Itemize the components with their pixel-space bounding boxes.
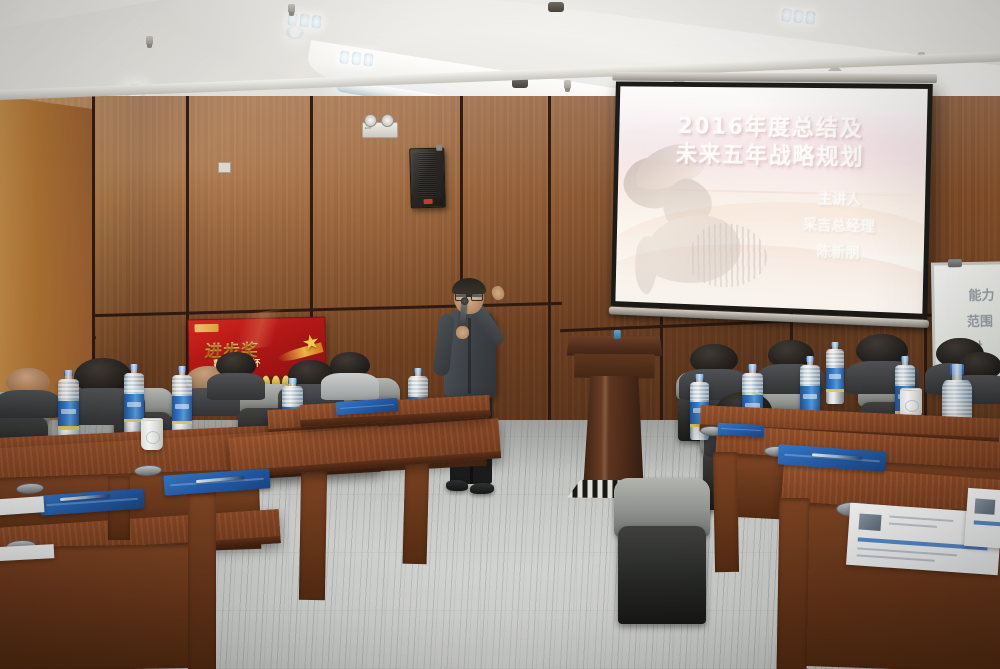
presenter-hand-right <box>490 284 506 301</box>
notebook <box>718 423 765 437</box>
desk-leg <box>299 470 327 600</box>
chair-foreground <box>614 478 710 618</box>
audience-person <box>216 352 256 396</box>
desk-leg <box>713 452 739 572</box>
paper-cup <box>141 418 163 450</box>
desk-leg <box>188 492 216 669</box>
whiteboard-text-line2: 范围 <box>967 311 993 330</box>
wall-sensor-icon <box>218 162 231 173</box>
desk-leg <box>777 498 810 669</box>
screen-surface: 2016年度总结及 未来五年战略规划 主讲人 采吉总经理 陈新朋 <box>615 86 927 313</box>
sprinkler-icon <box>564 80 571 89</box>
presenter-shoe-left <box>446 480 468 491</box>
wall-speaker-icon <box>409 148 446 209</box>
emergency-light-icon: EXIT <box>362 114 398 136</box>
whiteboard-clip-icon <box>948 259 962 267</box>
handout-paper <box>964 488 1000 554</box>
panel-seam <box>548 96 551 426</box>
triple-spotlight-icon <box>781 8 815 24</box>
slide-presenter-label: 主讲人 <box>755 186 925 211</box>
whiteboard-text-line1: 能力 <box>968 285 994 304</box>
audience-person <box>330 352 370 396</box>
podium-microphone-icon <box>614 330 621 339</box>
conference-room-photo: EXIT 2016年度总结及 未来五年战略规划 <box>0 0 1000 669</box>
downlight-icon <box>286 26 304 39</box>
slide-title-line2: 未来五年战略规划 <box>618 134 926 173</box>
projection-screen: 2016年度总结及 未来五年战略规划 主讲人 采吉总经理 陈新朋 <box>611 82 933 319</box>
water-bottle <box>826 342 844 404</box>
podium-column <box>583 376 644 485</box>
banner-corner-logo <box>194 324 218 333</box>
desk-modesty-panel <box>0 544 201 669</box>
audience-person <box>6 368 50 414</box>
presenter-glasses-icon <box>455 293 483 299</box>
emergency-light-label: EXIT <box>365 126 372 130</box>
desk-leg <box>403 452 430 565</box>
water-bottle <box>172 366 192 438</box>
sprinkler-icon <box>288 4 295 13</box>
ceiling-speaker-icon <box>548 2 564 12</box>
water-bottle <box>58 370 79 444</box>
podium-face <box>574 354 654 379</box>
presenter-hand-left <box>456 326 469 339</box>
presenter-shoe-right <box>470 483 494 494</box>
sprinkler-icon <box>146 36 153 45</box>
